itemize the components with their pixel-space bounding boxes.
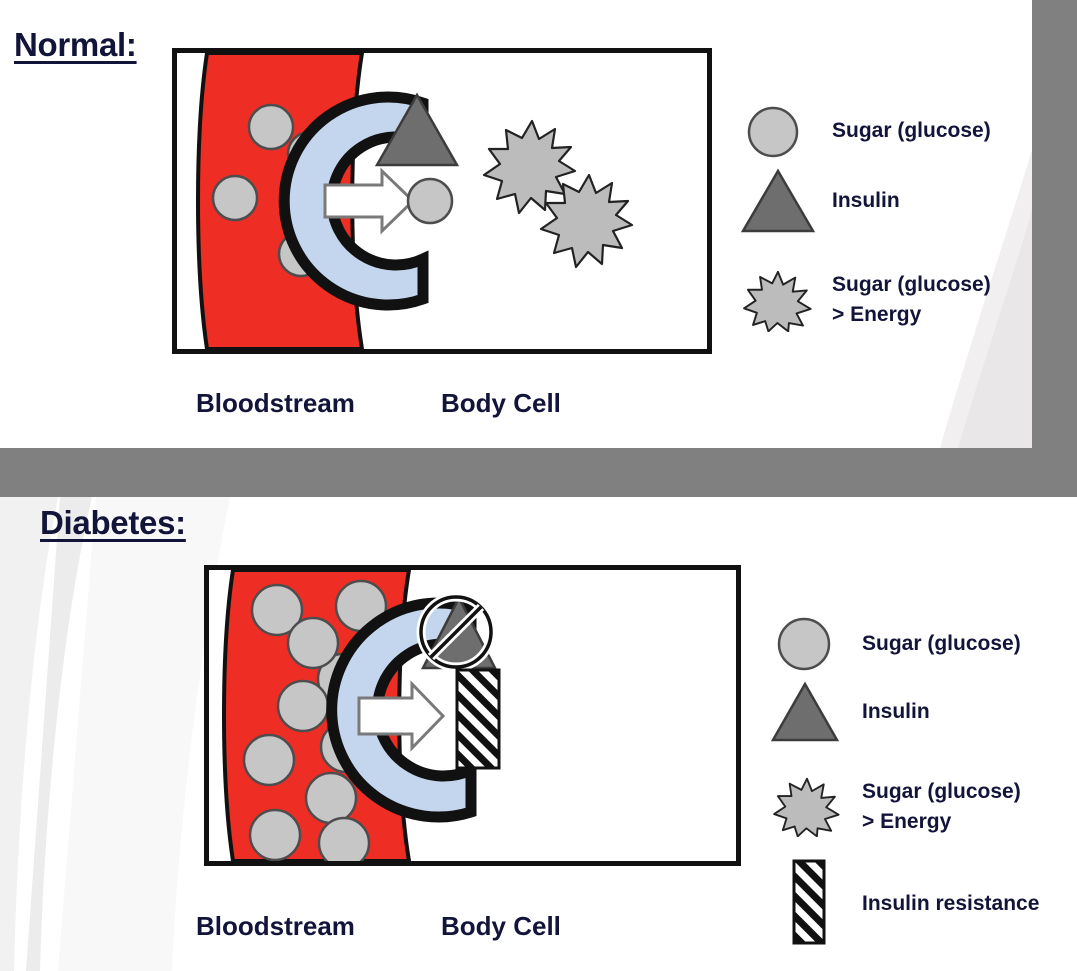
legend-circle-icon-diabetes [775,615,833,673]
insulin-resistance-plug [457,670,499,768]
legend-label-energy-diabetes-line1: Sugar (glucose) [862,777,1021,807]
sugar-molecule [213,176,257,220]
legend-label-energy-normal-line1: Sugar (glucose) [832,270,991,300]
legend-normal: Sugar (glucose) Insulin Sugar (glucose) … [740,98,1030,348]
legend-diabetes: Sugar (glucose) Insulin Sugar (glucose) … [770,607,1070,957]
legend-label-energy-diabetes-line2: > Energy [862,807,951,837]
sugar-molecule [306,773,356,823]
legend-label-insulin-resistance: Insulin resistance [862,889,1039,919]
caption-body-cell-diabetes: Body Cell [441,911,561,942]
legend-label-insulin-diabetes: Insulin [862,697,930,727]
legend-label-insulin-normal: Insulin [832,186,900,216]
diagram-box-normal [172,48,712,354]
diabetes-diagram-svg [209,570,736,861]
slide-canvas: Normal: [0,0,1077,971]
legend-label-sugar-diabetes: Sugar (glucose) [862,629,1021,659]
caption-body-cell-normal: Body Cell [441,388,561,419]
sugar-molecule [244,735,294,785]
legend-triangle-icon-normal [740,168,816,234]
panel-diabetes: Diabetes: [0,497,1077,971]
legend-triangle-icon-diabetes [770,681,840,743]
sugar-molecule [319,818,369,861]
panel-title-normal: Normal: [14,26,137,64]
energy-burst [484,121,575,213]
legend-hatched-block-icon-diabetes [792,859,826,945]
caption-bloodstream-diabetes: Bloodstream [196,911,355,942]
legend-label-sugar-normal: Sugar (glucose) [832,116,991,146]
sugar-molecule [249,105,293,149]
panel-normal: Normal: [0,0,1077,448]
sugar-molecule-entering [408,179,452,223]
horizontal-gray-divider [0,448,1077,497]
diagram-box-diabetes [204,565,741,866]
normal-diagram-svg [177,53,707,349]
sugar-molecule [288,618,338,668]
caption-bloodstream-normal: Bloodstream [196,388,355,419]
legend-starburst-icon-diabetes [772,775,842,837]
sugar-molecule [278,681,328,731]
sugar-molecule [250,810,300,860]
legend-circle-icon-normal [745,104,801,160]
panel-title-diabetes: Diabetes: [40,504,186,542]
legend-label-energy-normal-line2: > Energy [832,300,921,330]
energy-burst-group [484,121,632,267]
legend-starburst-icon-normal [742,268,814,332]
